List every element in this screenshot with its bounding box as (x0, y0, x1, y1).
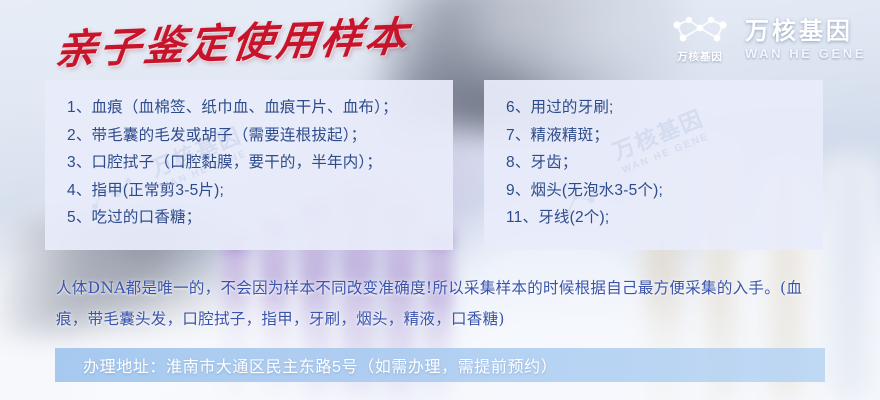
list-item: 5、吃过的口香糖； (67, 204, 453, 232)
brand-names: 万核基因 WAN HE GENE (745, 19, 866, 61)
brand-mark: 万核基因 (669, 16, 731, 64)
brand-logo: 万核基因 万核基因 WAN HE GENE (669, 16, 866, 64)
sample-list-right: 6、用过的牙刷; 7、精液精斑； 8、牙齿； 9、烟头(无泡水3-5个); 11… (484, 80, 823, 232)
sample-list-left: 1、血痕（血棉签、纸巾血、血痕干片、血布）； 2、带毛囊的毛发或胡子（需要连根拔… (45, 80, 453, 232)
list-item: 11、牙线(2个); (506, 204, 823, 232)
list-item: 2、带毛囊的毛发或胡子（需要连根拔起）； (67, 122, 453, 150)
brand-mark-label: 万核基因 (677, 49, 723, 64)
list-item: 7、精液精斑； (506, 122, 823, 150)
list-item: 3、口腔拭子（口腔黏膜，要干的，半年内）； (67, 149, 453, 177)
list-item: 9、烟头(无泡水3-5个); (506, 177, 823, 205)
accuracy-note: 人体DNA都是唯一的，不会因为样本不同改变准确度!所以采集样本的时候根据自己最方… (56, 273, 831, 335)
list-item: 4、指甲(正常剪3-5片); (67, 177, 453, 205)
sample-list-panel-right: 万核基因 WAN HE GENE 6、用过的牙刷; 7、精液精斑； (484, 80, 823, 250)
list-item: 1、血痕（血棉签、纸巾血、血痕干片、血布）； (67, 94, 453, 122)
sample-list-panel-left: 万核基因 WAN HE GENE 1、血痕（血棉签、纸巾血、血痕干片、血布）； (45, 80, 453, 250)
brand-name-cn: 万核基因 (745, 19, 866, 44)
list-item: 6、用过的牙刷; (506, 94, 823, 122)
address-bar: 办理地址：淮南市大通区民主东路5号（如需办理，需提前预约） (55, 348, 825, 382)
address-text: 办理地址：淮南市大通区民主东路5号（如需办理，需提前预约） (55, 353, 557, 377)
molecule-network-icon (669, 16, 731, 46)
poster-canvas: 亲子鉴定使用样本 (0, 0, 880, 400)
brand-name-en: WAN HE GENE (745, 47, 866, 61)
list-item: 8、牙齿； (506, 149, 823, 177)
